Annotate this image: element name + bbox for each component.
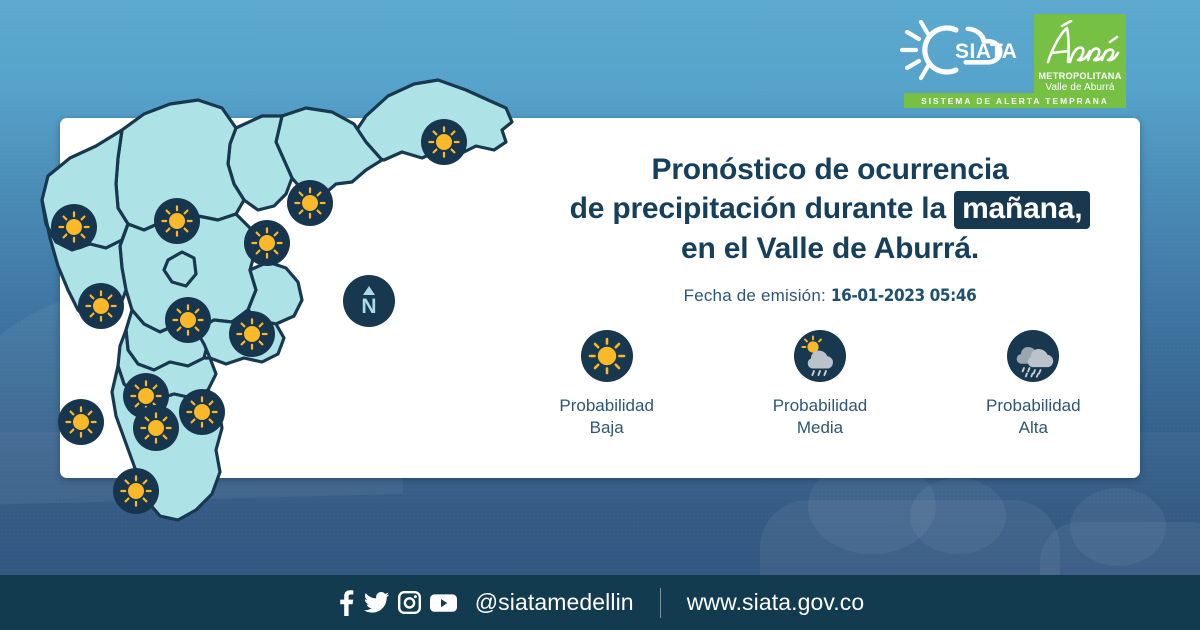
area-logo-line1: METROPOLITANA	[1038, 72, 1121, 82]
map-marker-baja	[113, 468, 159, 514]
legend-item-alta: Probabilidad Alta	[943, 330, 1123, 440]
area-logo-line2: Valle de Aburrá	[1045, 82, 1114, 94]
legend-label-line1: Probabilidad	[773, 396, 868, 415]
infographic-canvas: SIATA METROPOLITANA Valle de Aburrá SIST…	[0, 0, 1200, 630]
map-marker-baja	[154, 198, 200, 244]
website-url[interactable]: www.siata.gov.co	[687, 589, 865, 616]
area-script-icon	[1040, 20, 1120, 72]
compass-letter: N	[361, 296, 376, 317]
map-marker-baja	[421, 119, 467, 165]
legend-item-media: Probabilidad Media	[730, 330, 910, 440]
map-marker-baja	[133, 405, 179, 451]
legend-label-line1: Probabilidad	[559, 396, 654, 415]
headline-block: Pronóstico de ocurrencia de precipitació…	[520, 150, 1140, 306]
legend-label-line2: Alta	[1019, 418, 1048, 437]
legend-label-line2: Baja	[590, 418, 624, 437]
map-marker-baja	[58, 399, 104, 445]
emission-date: Fecha de emisión:16-01-2023 05:46	[520, 286, 1140, 306]
social-handle[interactable]: @siatamedellin	[475, 589, 634, 616]
siata-wordmark: SIATA	[955, 40, 1017, 63]
map-marker-baja	[287, 180, 333, 226]
map-marker-baja	[179, 389, 225, 435]
headline-line-1: Pronóstico de ocurrencia	[652, 153, 1009, 186]
siata-tagline: SISTEMA DE ALERTA TEMPRANA	[904, 93, 1126, 108]
page-title: Pronóstico de ocurrencia de precipitació…	[520, 150, 1140, 268]
map-marker-baja	[244, 220, 290, 266]
emission-date-label: Fecha de emisión:	[684, 286, 826, 305]
north-arrow-icon	[363, 286, 375, 295]
legend-label-line1: Probabilidad	[986, 396, 1081, 415]
siata-logo: SIATA	[894, 14, 1024, 86]
valle-de-aburra-map: N	[36, 24, 536, 584]
legend-item-baja: Probabilidad Baja	[517, 330, 697, 440]
headline-highlight-manana: mañana,	[954, 191, 1090, 229]
legend-label-baja: Probabilidad Baja	[517, 395, 697, 440]
cloud-rain-icon	[1007, 330, 1059, 382]
emission-date-value: 16-01-2023 05:46	[831, 286, 976, 306]
legend-label-line2: Media	[797, 418, 843, 437]
map-marker-baja	[51, 204, 97, 250]
youtube-icon[interactable]	[430, 593, 457, 613]
probability-legend: Probabilidad Baja	[500, 330, 1140, 440]
legend-label-media: Probabilidad Media	[730, 395, 910, 440]
instagram-icon[interactable]	[398, 591, 421, 614]
map-marker-baja	[229, 311, 275, 357]
legend-label-alta: Probabilidad Alta	[943, 395, 1123, 440]
facebook-icon[interactable]	[336, 590, 355, 616]
sun-icon	[581, 330, 633, 382]
headline-line-2-pre: de precipitación durante la	[570, 192, 946, 225]
footer-bar: @siatamedellin www.siata.gov.co	[0, 575, 1200, 630]
map-marker-baja	[78, 283, 124, 329]
map-compass-north: N	[343, 275, 395, 327]
social-icon-group	[336, 590, 457, 616]
headline-line-3: en el Valle de Aburrá.	[681, 232, 979, 265]
sun-cloud-rain-icon	[794, 330, 846, 382]
twitter-icon[interactable]	[364, 592, 389, 614]
footer-divider	[660, 588, 661, 618]
map-marker-baja	[165, 297, 211, 343]
